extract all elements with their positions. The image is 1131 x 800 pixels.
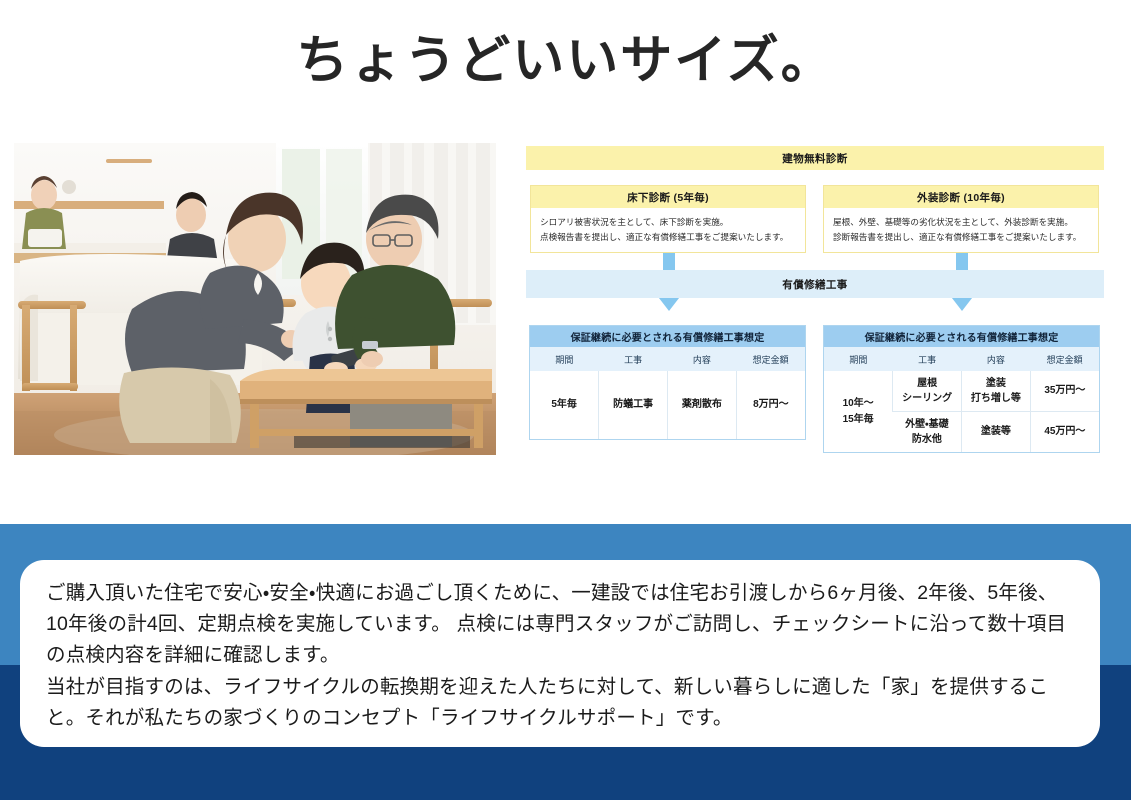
inspection-heading: 外装診断 (10年毎)	[824, 186, 1098, 208]
repair-table: 期間 工事 内容 想定金額 10年〜 15年毎 屋根 シーリング 塗装 打ち増し…	[824, 347, 1099, 452]
col-content: 内容	[668, 347, 737, 371]
col-work: 工事	[599, 347, 668, 371]
col-content: 内容	[962, 347, 1031, 371]
repair-table-termite: 保証継続に必要とされる有償修繕工事想定 期間 工事 内容 想定金額 5年毎 防蟻…	[529, 325, 806, 440]
free-inspection-bar: 建物無料診断	[526, 146, 1104, 170]
inspection-heading: 床下診断 (5年毎)	[531, 186, 805, 208]
inspection-body: 屋根、外壁、基礎等の劣化状況を主として、外装診断を実施。 診断報告書を提出し、適…	[824, 208, 1098, 245]
family-living-room-photo	[14, 143, 496, 455]
inspection-line-2: 点検報告書を提出し、適正な有償修繕工事をご提案いたします。	[540, 230, 796, 245]
inspection-line-1: シロアリ被害状況を主として、床下診断を実施。	[540, 215, 796, 230]
cell-amount: 35万円〜	[1030, 371, 1099, 412]
maintenance-flow-diagram: 建物無料診断 床下診断 (5年毎) シロアリ被害状況を主として、床下診断を実施。…	[526, 146, 1104, 464]
table-header-row: 期間 工事 内容 想定金額	[530, 347, 805, 371]
col-amount: 想定金額	[736, 347, 805, 371]
message-card: ご購入頂いた住宅で安心・安全・快適にお過ごし頂くために、一建設では住宅お引渡しか…	[20, 560, 1100, 747]
cell-work: 外壁・基礎 防水他	[893, 412, 962, 453]
paid-repair-bar: 有償修繕工事	[526, 270, 1104, 298]
cell-content: 塗装等	[962, 412, 1031, 453]
inspection-box-exterior: 外装診断 (10年毎) 屋根、外壁、基礎等の劣化状況を主として、外装診断を実施。…	[823, 185, 1099, 253]
cell-amount: 8万円〜	[736, 371, 805, 439]
inspection-box-underfloor: 床下診断 (5年毎) シロアリ被害状況を主として、床下診断を実施。 点検報告書を…	[530, 185, 806, 253]
cell-period: 10年〜 15年毎	[824, 371, 893, 452]
col-period: 期間	[824, 347, 893, 371]
cell-period: 5年毎	[530, 371, 599, 439]
cell-amount: 45万円〜	[1030, 412, 1099, 453]
inspection-line-2: 診断報告書を提出し、適正な有償修繕工事をご提案いたします。	[833, 230, 1089, 245]
repair-table-exterior: 保証継続に必要とされる有償修繕工事想定 期間 工事 内容 想定金額 10年〜 1…	[823, 325, 1100, 453]
cell-work: 防蟻工事	[599, 371, 668, 439]
table-row: 10年〜 15年毎 屋根 シーリング 塗装 打ち増し等 35万円〜	[824, 371, 1099, 412]
page-title: ちょうどいいサイズ。	[0, 26, 1131, 96]
repair-table-title: 保証継続に必要とされる有償修繕工事想定	[824, 326, 1099, 347]
repair-table: 期間 工事 内容 想定金額 5年毎 防蟻工事 薬剤散布 8万円〜	[530, 347, 805, 439]
col-amount: 想定金額	[1030, 347, 1099, 371]
table-row: 5年毎 防蟻工事 薬剤散布 8万円〜	[530, 371, 805, 439]
col-period: 期間	[530, 347, 599, 371]
table-header-row: 期間 工事 内容 想定金額	[824, 347, 1099, 371]
message-body: ご購入頂いた住宅で安心・安全・快適にお過ごし頂くために、一建設では住宅お引渡しか…	[46, 578, 1074, 734]
cell-content: 薬剤散布	[668, 371, 737, 439]
inspection-body: シロアリ被害状況を主として、床下診断を実施。 点検報告書を提出し、適正な有償修繕…	[531, 208, 805, 245]
cell-work: 屋根 シーリング	[893, 371, 962, 412]
inspection-line-1: 屋根、外壁、基礎等の劣化状況を主として、外装診断を実施。	[833, 215, 1089, 230]
repair-table-title: 保証継続に必要とされる有償修繕工事想定	[530, 326, 805, 347]
cell-content: 塗装 打ち増し等	[962, 371, 1031, 412]
col-work: 工事	[893, 347, 962, 371]
